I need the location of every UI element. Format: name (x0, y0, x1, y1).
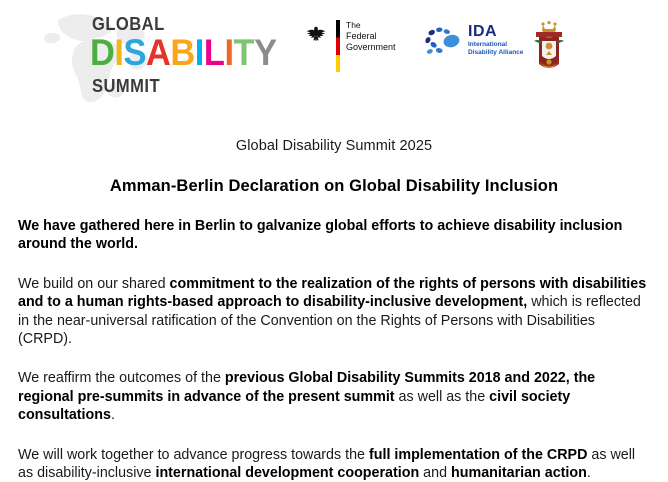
text-run-bold: full implementation of the CRPD (369, 447, 587, 463)
logo-header: GLOBAL DISABILITY SUMMIT The Federal Gov… (0, 0, 668, 110)
gds-word-disability: DISABILITY (90, 34, 277, 72)
declaration-body: Global Disability Summit 2025 Amman-Berl… (0, 138, 668, 482)
gds-letter-5: I (195, 34, 204, 72)
gds-letter-4: B (170, 34, 194, 72)
gds-letter-3: A (146, 34, 170, 72)
summit-eyebrow: Global Disability Summit 2025 (18, 138, 650, 154)
gds-letter-6: L (204, 34, 225, 72)
gds-letter-1: I (114, 34, 123, 72)
gds-letter-0: D (90, 34, 114, 72)
ida-acronym: IDA (468, 23, 497, 41)
federal-government-label: The Federal Government (346, 20, 405, 53)
federal-government-line2: Federal Government (346, 31, 405, 53)
gds-letter-7: I (224, 34, 233, 72)
ida-subtitle-line2: Disability Alliance (468, 49, 523, 57)
text-run-bold: international development cooperation (155, 465, 419, 481)
text-run: . (587, 465, 591, 481)
document-page: GLOBAL DISABILITY SUMMIT The Federal Gov… (0, 0, 668, 482)
text-run-bold: We have gathered here in Berlin to galva… (18, 218, 622, 252)
paragraph-p3: We reaffirm the outcomes of the previous… (18, 369, 650, 424)
gds-wordmark: GLOBAL DISABILITY SUMMIT (90, 8, 300, 108)
text-run: as well as the (395, 389, 490, 405)
jordan-coat-of-arms-icon (528, 18, 570, 74)
gds-letter-2: S (123, 34, 145, 72)
ida-logo: IDA International Disability Alliance (424, 22, 520, 67)
gds-letter-9: Y (254, 34, 276, 72)
text-run: We will work together to advance progres… (18, 447, 369, 463)
ida-petals-icon (424, 26, 462, 58)
german-flag-bar (336, 20, 340, 72)
paragraph-list: We have gathered here in Berlin to galva… (18, 217, 650, 482)
paragraph-p4: We will work together to advance progres… (18, 446, 650, 482)
federal-government-logo: The Federal Government (305, 18, 405, 76)
paragraph-p2: We build on our shared commitment to the… (18, 275, 650, 349)
text-run: . (111, 407, 115, 423)
gds-word-summit: SUMMIT (92, 76, 160, 97)
global-disability-summit-logo: GLOBAL DISABILITY SUMMIT (22, 2, 292, 110)
federal-government-line1: The (346, 20, 405, 31)
text-run: We build on our shared (18, 276, 170, 292)
ida-subtitle: International Disability Alliance (468, 41, 523, 57)
text-run-bold: humanitarian action (451, 465, 587, 481)
text-run: and (419, 465, 451, 481)
text-run: We reaffirm the outcomes of the (18, 370, 225, 386)
gds-letter-8: T (234, 34, 255, 72)
german-eagle-icon (305, 22, 327, 44)
page-title: Amman-Berlin Declaration on Global Disab… (18, 177, 650, 196)
ida-subtitle-line1: International (468, 41, 523, 49)
paragraph-p1: We have gathered here in Berlin to galva… (18, 217, 650, 254)
